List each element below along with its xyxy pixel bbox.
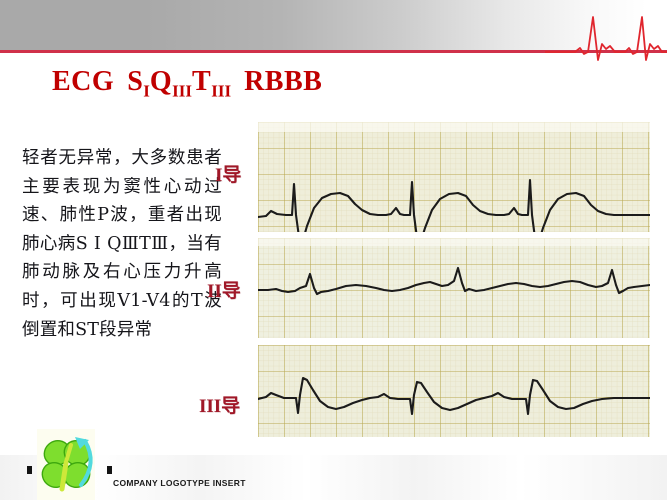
ecg-strip-lead-III [258,345,650,448]
title-q: Q [150,66,172,97]
page-title: ECGSIQIIITIIIRBBB [52,66,322,102]
title-rbbb: RBBB [244,66,322,97]
ecg-strip-lead-I [258,122,650,232]
description-paragraph: 轻者无异常，大多数患者主要表现为窦性心动过速、肺性P波，重者出现肺心病S Ⅰ Q… [22,144,222,344]
title-q-subscript: III [172,82,192,101]
title-ecg: ECG [52,66,114,97]
header-heartbeat-icon [545,8,667,66]
title-s-subscript: I [143,82,150,101]
company-logo [35,429,115,500]
logo-handle-left[interactable] [27,466,32,474]
lead-label-II: II导 [207,276,241,303]
title-t: T [192,66,211,97]
title-s: S [127,66,143,97]
title-t-subscript: III [211,82,231,101]
lead-label-III: III导 [199,391,240,418]
lead-label-I: I导 [215,160,241,187]
company-logotype-label: COMPANY LOGOTYPE INSERT [113,478,246,488]
ecg-strip-lead-II [258,238,650,338]
logo-handle-right[interactable] [107,466,112,474]
